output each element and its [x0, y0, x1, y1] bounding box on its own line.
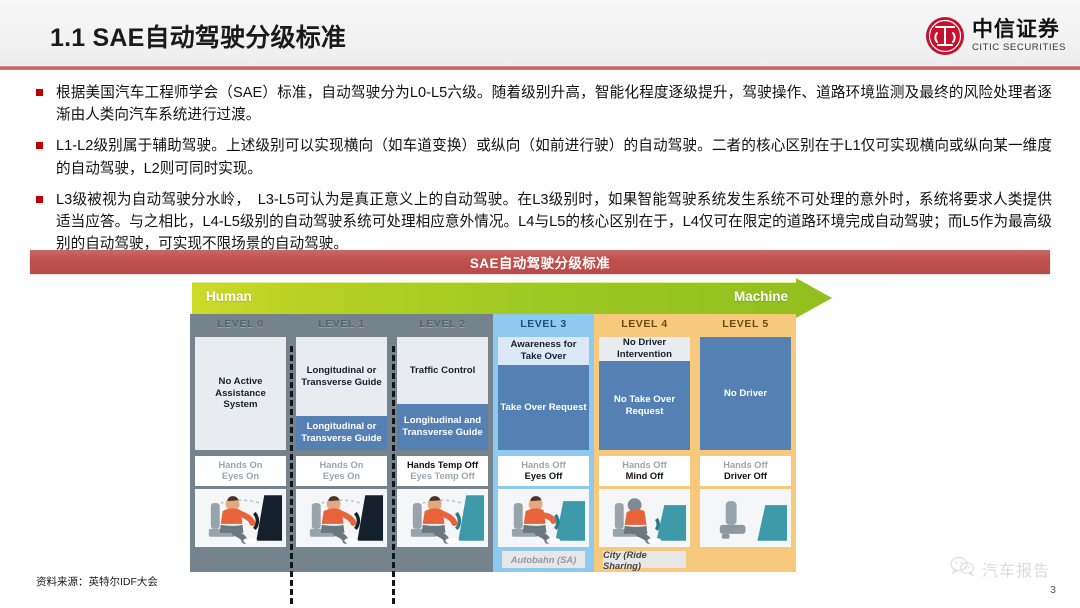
system-task-card-1: Longitudinal or Transverse Guide: [296, 416, 387, 450]
bullet-text: L3级被视为自动驾驶分水岭， L3-L5可认为是真正意义上的自动驾驶。在L3级别…: [56, 189, 1052, 256]
brand-name-en: CITIC SECURITIES: [972, 43, 1066, 53]
level3-left-divider: [290, 346, 293, 604]
arrow-label-machine: Machine: [734, 289, 788, 304]
system-task-card-3: Take Over Request: [498, 365, 589, 450]
environment-label-3: Autobahn (SA): [502, 551, 585, 568]
driver-illustration-3: [498, 489, 589, 547]
bullet-item: L1-L2级别属于辅助驾驶。上述级别可以实现横向（如车道变换）或纵向（如前进行驶…: [36, 135, 1052, 179]
watermark-text: 汽车报告: [982, 557, 1050, 581]
bullet-square-icon: [36, 142, 43, 149]
driver-task-card-4: No Driver Intervention: [599, 337, 690, 361]
system-task-card-2: Longitudinal and Transverse Guide: [397, 404, 488, 450]
arrow-body: [192, 282, 796, 315]
driver-illustration-0: [195, 489, 286, 547]
hands-line2-3: Eyes Off: [525, 471, 563, 482]
driver-illustration-4: [599, 489, 690, 547]
hands-card-4: Hands Off Mind Off: [599, 456, 690, 486]
environment-label-5: [704, 551, 787, 568]
driver-illustration-1: [296, 489, 387, 547]
hands-line1-0: Hands On: [219, 460, 263, 471]
level-cells-2: Traffic Control Longitudinal and Transve…: [392, 333, 493, 572]
level-column-3[interactable]: LEVEL 3 Awareness for Take Over Take Ove…: [493, 314, 594, 572]
level-header-1: LEVEL 1: [291, 314, 392, 333]
driver-illustration-5: [700, 489, 791, 547]
level-header-5: LEVEL 5: [695, 314, 796, 333]
hands-line1-1: Hands On: [320, 460, 364, 471]
citic-logo-icon: [925, 16, 965, 56]
brand-logo: 中信证券 CITIC SECURITIES: [925, 14, 1066, 58]
hands-line1-2: Hands Temp Off: [407, 460, 478, 471]
page-number: 3: [1050, 584, 1056, 596]
system-task-card-5: No Driver: [700, 337, 791, 450]
bullet-item: 根据美国汽车工程师学会（SAE）标准，自动驾驶分为L0-L5六级。随着级别升高，…: [36, 82, 1052, 126]
system-task-card-4: No Take Over Request: [599, 361, 690, 450]
arrow-head-icon: [796, 278, 832, 318]
hands-line1-4: Hands Off: [622, 460, 666, 471]
level-column-0[interactable]: LEVEL 0 No Active Assistance System Hand…: [190, 314, 291, 572]
driver-task-card-2: Traffic Control: [397, 337, 488, 404]
page-title: 1.1 SAE自动驾驶分级标准: [50, 18, 346, 54]
level-column-5[interactable]: LEVEL 5 No Driver Hands Off Driver Off: [695, 314, 796, 572]
hands-line1-3: Hands Off: [521, 460, 565, 471]
level-header-2: LEVEL 2: [392, 314, 493, 333]
slide-header: 1.1 SAE自动驾驶分级标准 中信证券 CITIC SECURITIES: [0, 0, 1080, 68]
level-cells-0: No Active Assistance System Hands On Eye…: [190, 333, 291, 572]
level-header-3: LEVEL 3: [493, 314, 594, 333]
bullet-text: L1-L2级别属于辅助驾驶。上述级别可以实现横向（如车道变换）或纵向（如前进行驶…: [56, 135, 1052, 179]
environment-label-1: [300, 551, 383, 568]
hands-line2-2: Eyes Temp Off: [410, 471, 474, 482]
hands-card-2: Hands Temp Off Eyes Temp Off: [397, 456, 488, 486]
level-column-1[interactable]: LEVEL 1 Longitudinal or Transverse Guide…: [291, 314, 392, 572]
environment-label-0: [199, 551, 282, 568]
level-cells-3: Awareness for Take Over Take Over Reques…: [493, 333, 594, 572]
level3-right-divider: [392, 346, 395, 604]
bullet-list: 根据美国汽车工程师学会（SAE）标准，自动驾驶分为L0-L5六级。随着级别升高，…: [36, 82, 1052, 264]
bullet-square-icon: [36, 196, 43, 203]
driver-illustration-2: [397, 489, 488, 547]
hands-line2-1: Eyes On: [323, 471, 360, 482]
bullet-text: 根据美国汽车工程师学会（SAE）标准，自动驾驶分为L0-L5六级。随着级别升高，…: [56, 82, 1052, 126]
chart-title: SAE自动驾驶分级标准: [470, 252, 610, 272]
level-cells-5: No Driver Hands Off Driver Off: [695, 333, 796, 572]
brand-name-cn: 中信证券: [972, 19, 1066, 40]
header-divider: [0, 66, 1080, 70]
driver-task-card-3: Awareness for Take Over: [498, 337, 589, 365]
hands-line1-5: Hands Off: [723, 460, 767, 471]
environment-label-4: City (Ride Sharing): [603, 551, 686, 568]
hands-card-3: Hands Off Eyes Off: [498, 456, 589, 486]
watermark: 汽车报告: [950, 556, 1050, 581]
hands-card-0: Hands On Eyes On: [195, 456, 286, 486]
hands-line2-4: Mind Off: [626, 471, 664, 482]
level-column-2[interactable]: LEVEL 2 Traffic Control Longitudinal and…: [392, 314, 493, 572]
level-header-0: LEVEL 0: [190, 314, 291, 333]
hands-line2-5: Driver Off: [724, 471, 767, 482]
hands-card-1: Hands On Eyes On: [296, 456, 387, 486]
chart-title-bar: SAE自动驾驶分级标准: [30, 250, 1050, 274]
driver-task-card-0: No Active Assistance System: [195, 337, 286, 450]
hands-line2-0: Eyes On: [222, 471, 259, 482]
level-cells-4: No Driver Intervention No Take Over Requ…: [594, 333, 695, 572]
bullet-square-icon: [36, 89, 43, 96]
source-note: 资料来源：英特尔IDF大会: [36, 574, 158, 589]
level-column-4[interactable]: LEVEL 4 No Driver Intervention No Take O…: [594, 314, 695, 572]
level-cells-1: Longitudinal or Transverse Guide Longitu…: [291, 333, 392, 572]
wechat-icon: [950, 556, 976, 581]
human-machine-arrow: Human Machine: [192, 282, 830, 314]
level-header-4: LEVEL 4: [594, 314, 695, 333]
level-grid: LEVEL 0 No Active Assistance System Hand…: [190, 314, 798, 572]
sae-level-figure: Human Machine LEVEL 0 No Active Assistan…: [190, 282, 830, 574]
arrow-label-human: Human: [206, 289, 252, 304]
hands-card-5: Hands Off Driver Off: [700, 456, 791, 486]
environment-label-2: [401, 551, 484, 568]
bullet-item: L3级被视为自动驾驶分水岭， L3-L5可认为是真正意义上的自动驾驶。在L3级别…: [36, 189, 1052, 256]
driver-task-card-1: Longitudinal or Transverse Guide: [296, 337, 387, 416]
brand-logo-text: 中信证券 CITIC SECURITIES: [972, 19, 1066, 53]
